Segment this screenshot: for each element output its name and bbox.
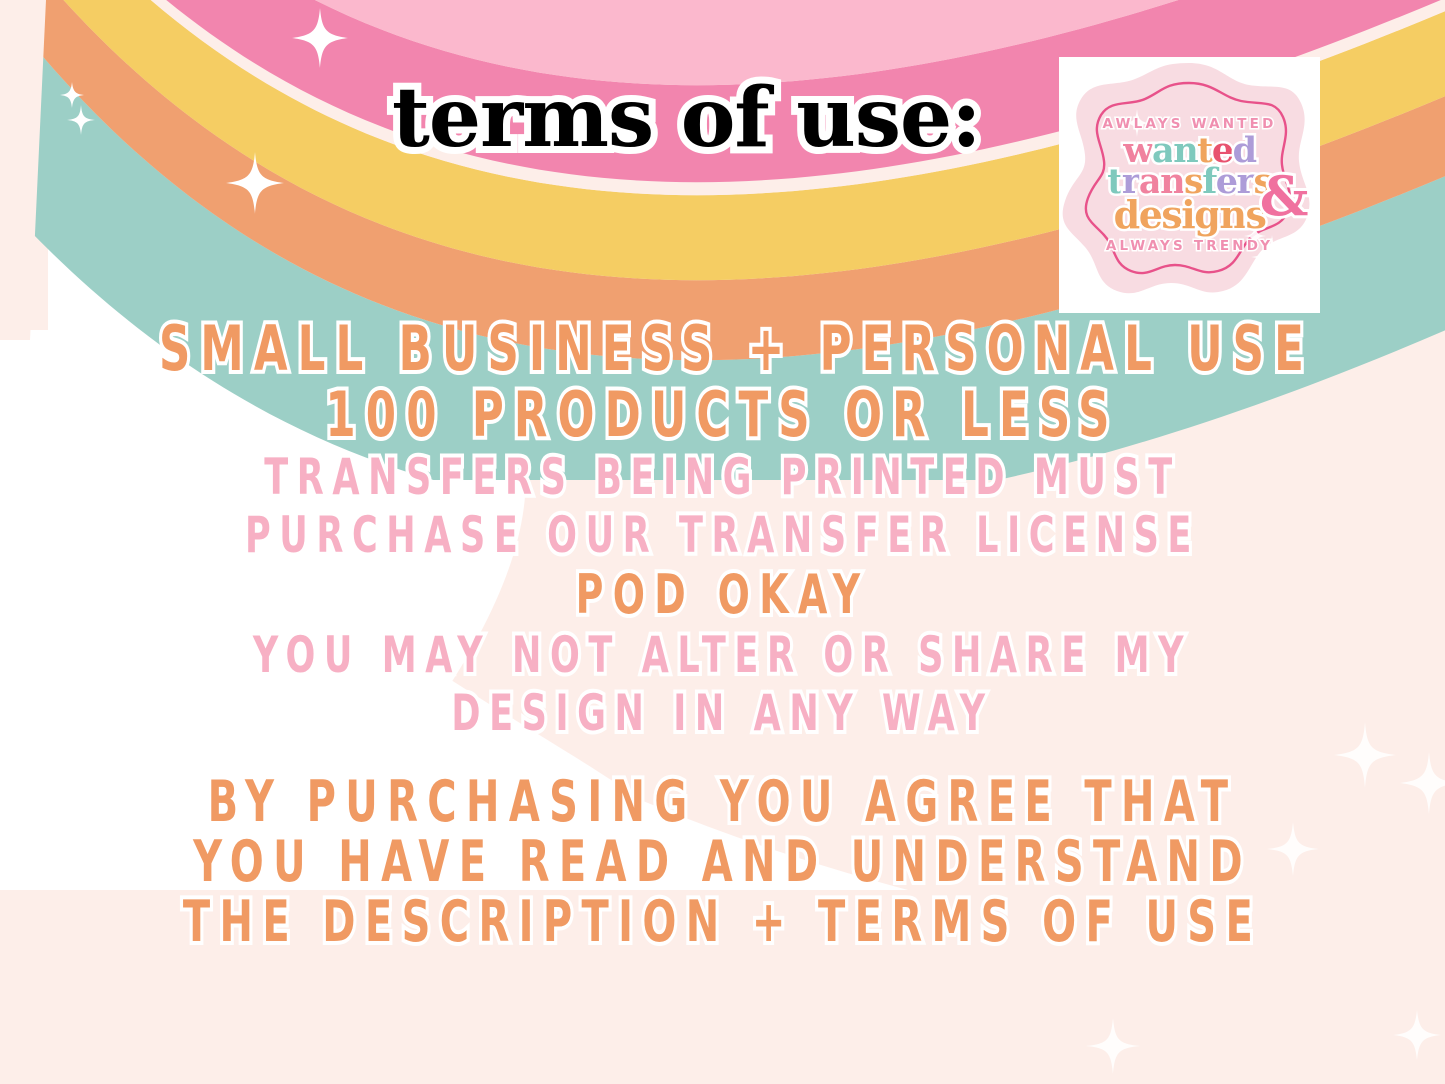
terms-line: POD OKAY bbox=[159, 564, 1286, 626]
logo-text-stack: AWLAYS WANTED wanted transfers designs &… bbox=[1059, 57, 1320, 313]
logo-letter: e bbox=[1139, 198, 1162, 231]
terms-line: DESIGN IN ANY WAY bbox=[159, 684, 1286, 742]
terms-text-block: SMALL BUSINESS + PERSONAL USE100 PRODUCT… bbox=[0, 316, 1445, 742]
left-edge-strip bbox=[0, 0, 48, 330]
agreement-line: YOU HAVE READ AND UNDERSTAND bbox=[159, 832, 1286, 892]
terms-line: TRANSFERS BEING PRINTED MUST bbox=[159, 448, 1286, 506]
terms-of-use-graphic: terms of use: AWLAYS WANTED wanted trans… bbox=[0, 0, 1445, 1084]
logo-tagline-bottom: ALWAYS TRENDY bbox=[1106, 238, 1273, 254]
logo-letter: n bbox=[1219, 198, 1245, 231]
terms-line: 100 PRODUCTS OR LESS bbox=[159, 382, 1286, 448]
agreement-text-block: BY PURCHASING YOU AGREE THATYOU HAVE REA… bbox=[0, 772, 1445, 952]
terms-line: PURCHASE OUR TRANSFER LICENSE bbox=[159, 506, 1286, 564]
logo-wordmark: wanted transfers designs & bbox=[1075, 136, 1305, 231]
brand-logo-card: AWLAYS WANTED wanted transfers designs &… bbox=[1059, 57, 1320, 313]
terms-line: SMALL BUSINESS + PERSONAL USE bbox=[159, 316, 1286, 382]
logo-letter: i bbox=[1181, 198, 1194, 231]
terms-line: YOU MAY NOT ALTER OR SHARE MY bbox=[159, 626, 1286, 684]
agreement-line: THE DESCRIPTION + TERMS OF USE bbox=[159, 892, 1286, 952]
logo-ampersand: & bbox=[1260, 164, 1309, 228]
logo-letter: d bbox=[1114, 198, 1139, 231]
page-title: terms of use: bbox=[392, 72, 1052, 164]
page-title-wrap: terms of use: bbox=[392, 72, 1052, 168]
logo-letter: g bbox=[1194, 198, 1219, 231]
logo-letter: s bbox=[1161, 198, 1181, 231]
agreement-line: BY PURCHASING YOU AGREE THAT bbox=[159, 772, 1286, 832]
